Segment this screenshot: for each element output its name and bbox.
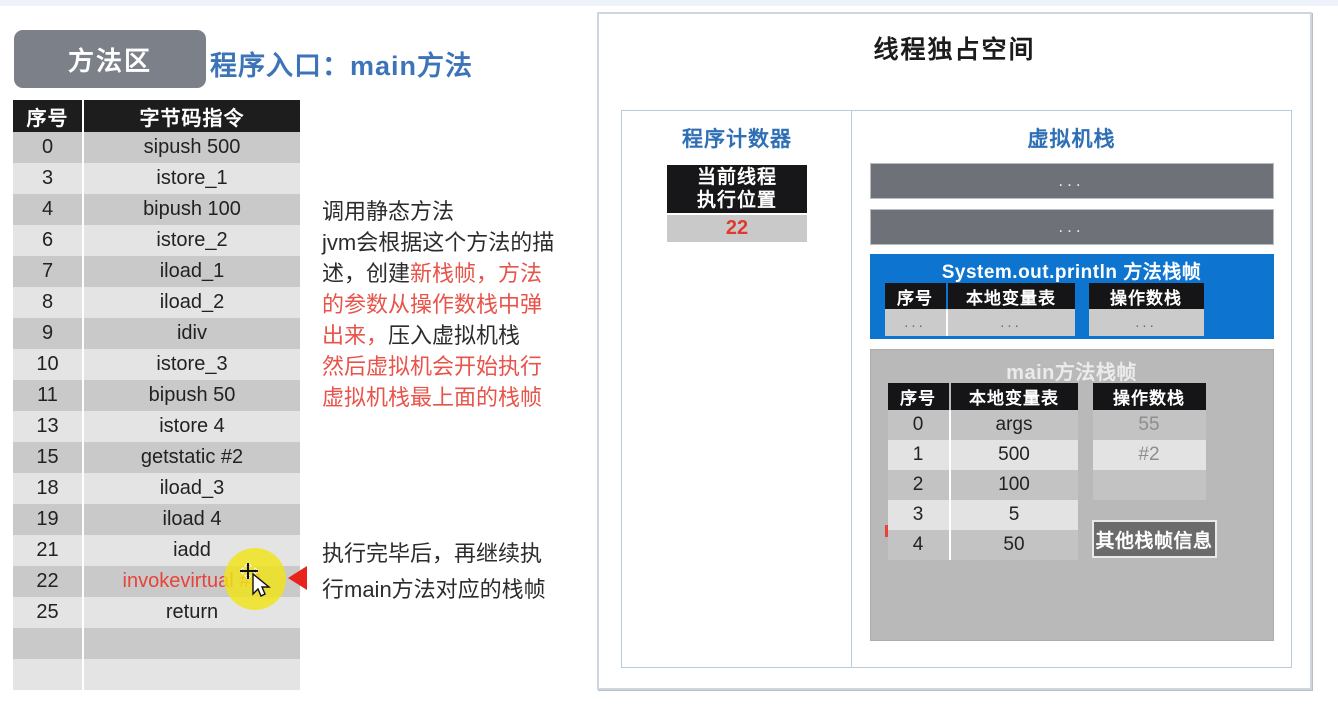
stack-frame-ellipsis-bar: ... bbox=[870, 209, 1274, 245]
annotation-block-2: 执行完毕后，再继续执 行main方法对应的栈帧 bbox=[322, 536, 584, 608]
bytecode-index-cell: 9 bbox=[13, 318, 83, 349]
vm-stack-title: 虚拟机栈 bbox=[852, 123, 1291, 153]
note-line-5-red: 出来， bbox=[322, 323, 388, 348]
bytecode-index-cell: 3 bbox=[13, 163, 83, 194]
main-lv-cell: 5 bbox=[950, 500, 1078, 530]
note-line-4: 的参数从操作数栈中弹 bbox=[322, 289, 584, 320]
main-lv-cell: 3 bbox=[888, 500, 950, 530]
bytecode-table-header-row: 序号 字节码指令 bbox=[13, 100, 300, 132]
bytecode-instruction-cell: iload 4 bbox=[83, 504, 300, 535]
bytecode-instruction-cell: istore_2 bbox=[83, 225, 300, 256]
note2-line-2: 行main方法对应的栈帧 bbox=[322, 572, 584, 608]
bytecode-instruction-cell: bipush 50 bbox=[83, 380, 300, 411]
method-area-badge: 方法区 bbox=[14, 30, 206, 88]
main-lv-cell: args bbox=[950, 410, 1078, 440]
println-local-variable-table: 序号 本地变量表 ... ... bbox=[885, 283, 1075, 336]
bytecode-instruction-cell: iload_3 bbox=[83, 473, 300, 504]
bytecode-index-cell: 11 bbox=[13, 380, 83, 411]
note2-line-1: 执行完毕后，再继续执 bbox=[322, 536, 584, 572]
program-counter-label-line1: 当前线程 bbox=[697, 166, 777, 189]
bytecode-index-cell bbox=[13, 659, 83, 690]
main-lv-cell: 2 bbox=[888, 470, 950, 500]
println-operand-cell: ... bbox=[1089, 309, 1204, 336]
main-lv-header-vars: 本地变量表 bbox=[950, 383, 1078, 410]
main-operand-cell: #2 bbox=[1093, 440, 1206, 470]
bytecode-index-cell: 4 bbox=[13, 194, 83, 225]
table-row: ... bbox=[1089, 309, 1204, 336]
table-row[interactable]: 11bipush 50 bbox=[13, 380, 300, 411]
program-counter-title: 程序计数器 bbox=[622, 123, 852, 153]
main-frame-title: main方法栈帧 bbox=[871, 350, 1273, 385]
annotation-block-1: 调用静态方法 jvm会根据这个方法的描 述，创建新栈帧，方法 的参数从操作数栈中… bbox=[322, 196, 584, 413]
table-row[interactable]: 7iload_1 bbox=[13, 256, 300, 287]
table-row: 55 bbox=[1093, 410, 1206, 440]
bytecode-instruction-cell bbox=[83, 659, 300, 690]
main-lv-cell: 4 bbox=[888, 530, 950, 560]
table-row[interactable]: 4bipush 100 bbox=[13, 194, 300, 225]
bytecode-index-cell: 25 bbox=[13, 597, 83, 628]
bytecode-instruction-cell: iload_2 bbox=[83, 287, 300, 318]
red-pointer-arrow-icon bbox=[288, 566, 307, 590]
main-lv-cell: 50 bbox=[950, 530, 1078, 560]
println-frame-title: System.out.println 方法栈帧 bbox=[870, 257, 1274, 284]
bytecode-index-cell: 6 bbox=[13, 225, 83, 256]
bytecode-table: 序号 字节码指令 0sipush 5003istore_14bipush 100… bbox=[13, 100, 300, 690]
table-row[interactable]: 19iload 4 bbox=[13, 504, 300, 535]
bytecode-instruction-cell: return bbox=[83, 597, 300, 628]
note-line-3: 述，创建新栈帧，方法 bbox=[322, 258, 584, 289]
table-row: 0args bbox=[888, 410, 1078, 440]
note-line-3-red: 新栈帧，方法 bbox=[410, 261, 542, 286]
program-entry-title: 程序入口：main方法 bbox=[210, 44, 473, 83]
bytecode-header-index: 序号 bbox=[13, 100, 83, 132]
program-counter-label-line2: 执行位置 bbox=[697, 189, 777, 212]
table-row[interactable]: 10istore_3 bbox=[13, 349, 300, 380]
main-operand-header: 操作数栈 bbox=[1093, 383, 1206, 410]
bytecode-instruction-cell: sipush 500 bbox=[83, 132, 300, 163]
table-row: ... ... bbox=[885, 309, 1075, 336]
note-line-5: 出来，压入虚拟机栈 bbox=[322, 320, 584, 351]
bytecode-instruction-cell bbox=[83, 628, 300, 659]
other-frame-info-box: 其他栈帧信息 bbox=[1092, 520, 1217, 558]
program-counter-box: 程序计数器 当前线程 执行位置 22 bbox=[621, 110, 853, 668]
bytecode-index-cell: 21 bbox=[13, 535, 83, 566]
main-operand-cell bbox=[1093, 470, 1206, 500]
program-counter-label-cell: 当前线程 执行位置 bbox=[667, 165, 807, 213]
println-lv-cell: ... bbox=[885, 309, 947, 336]
bytecode-instruction-cell: idiv bbox=[83, 318, 300, 349]
table-row bbox=[1093, 470, 1206, 500]
table-row[interactable]: 15getstatic #2 bbox=[13, 442, 300, 473]
main-lv-cell: 100 bbox=[950, 470, 1078, 500]
main-lv-header-index: 序号 bbox=[888, 383, 950, 410]
bytecode-instruction-cell: istore_3 bbox=[83, 349, 300, 380]
table-row[interactable]: 0sipush 500 bbox=[13, 132, 300, 163]
table-row: 1500 bbox=[888, 440, 1078, 470]
table-row[interactable]: 18iload_3 bbox=[13, 473, 300, 504]
bytecode-instruction-cell: istore_1 bbox=[83, 163, 300, 194]
bytecode-index-cell: 15 bbox=[13, 442, 83, 473]
main-operand-cell: 55 bbox=[1093, 410, 1206, 440]
bytecode-index-cell: 18 bbox=[13, 473, 83, 504]
table-row: 450 bbox=[888, 530, 1078, 560]
method-area-badge-label: 方法区 bbox=[68, 41, 152, 78]
bytecode-header-instruction: 字节码指令 bbox=[83, 100, 300, 132]
println-lv-cell: ... bbox=[947, 309, 1075, 336]
println-lv-header-index: 序号 bbox=[885, 283, 947, 309]
stack-frame-ellipsis-bar: ... bbox=[870, 163, 1274, 199]
bytecode-index-cell: 13 bbox=[13, 411, 83, 442]
bytecode-index-cell: 0 bbox=[13, 132, 83, 163]
note-line-2: jvm会根据这个方法的描 bbox=[322, 227, 584, 258]
table-row[interactable] bbox=[13, 628, 300, 659]
main-lv-cell: 500 bbox=[950, 440, 1078, 470]
bytecode-instruction-cell: istore 4 bbox=[83, 411, 300, 442]
bytecode-instruction-cell: iload_1 bbox=[83, 256, 300, 287]
table-row: 35 bbox=[888, 500, 1078, 530]
table-row: 2100 bbox=[888, 470, 1078, 500]
note-line-6: 然后虚拟机会开始执行 bbox=[322, 351, 584, 382]
note-line-1: 调用静态方法 bbox=[322, 196, 584, 227]
main-lv-cell: 1 bbox=[888, 440, 950, 470]
table-row[interactable]: 8iload_2 bbox=[13, 287, 300, 318]
move-cursor-icon bbox=[240, 562, 276, 598]
main-stack-frame: main方法栈帧 序号 本地变量表 0args1500210035450 操作数… bbox=[870, 349, 1274, 641]
table-row[interactable]: 6istore_2 bbox=[13, 225, 300, 256]
main-local-variable-table: 序号 本地变量表 0args1500210035450 bbox=[888, 383, 1078, 560]
bytecode-index-cell: 19 bbox=[13, 504, 83, 535]
table-row[interactable]: 13istore 4 bbox=[13, 411, 300, 442]
println-operand-header: 操作数栈 bbox=[1089, 283, 1204, 309]
bytecode-index-cell: 7 bbox=[13, 256, 83, 287]
table-row[interactable]: 25return bbox=[13, 597, 300, 628]
screenshot-root: 方法区 程序入口：main方法 序号 字节码指令 0sipush 5003ist… bbox=[0, 0, 1338, 708]
table-row[interactable]: 9idiv bbox=[13, 318, 300, 349]
program-counter-value: 22 bbox=[667, 215, 807, 242]
note-line-7: 虚拟机栈最上面的栈帧 bbox=[322, 382, 584, 413]
bytecode-instruction-cell: getstatic #2 bbox=[83, 442, 300, 473]
top-strip bbox=[0, 0, 1338, 6]
bytecode-index-cell bbox=[13, 628, 83, 659]
bytecode-index-cell: 8 bbox=[13, 287, 83, 318]
bytecode-index-cell: 22 bbox=[13, 566, 83, 597]
main-lv-cell: 0 bbox=[888, 410, 950, 440]
table-row[interactable]: 3istore_1 bbox=[13, 163, 300, 194]
thread-exclusive-space-panel: 线程独占空间 程序计数器 当前线程 执行位置 22 虚拟机栈 ... ... S… bbox=[597, 12, 1312, 690]
main-operand-stack-table: 操作数栈 55#2 bbox=[1093, 383, 1206, 500]
bytecode-index-cell: 10 bbox=[13, 349, 83, 380]
println-operand-stack-table: 操作数栈 ... bbox=[1089, 283, 1204, 336]
table-row[interactable] bbox=[13, 659, 300, 690]
table-row: #2 bbox=[1093, 440, 1206, 470]
vm-stack-box: 虚拟机栈 ... ... System.out.println 方法栈帧 序号 … bbox=[851, 110, 1292, 668]
note-line-5-dark: 压入虚拟机栈 bbox=[388, 323, 520, 348]
note-line-3-dark: 述，创建 bbox=[322, 261, 410, 286]
println-stack-frame: System.out.println 方法栈帧 序号 本地变量表 ... ... bbox=[870, 254, 1274, 339]
println-lv-header-vars: 本地变量表 bbox=[947, 283, 1075, 309]
bytecode-instruction-cell: bipush 100 bbox=[83, 194, 300, 225]
thread-exclusive-space-title: 线程独占空间 bbox=[599, 30, 1310, 66]
